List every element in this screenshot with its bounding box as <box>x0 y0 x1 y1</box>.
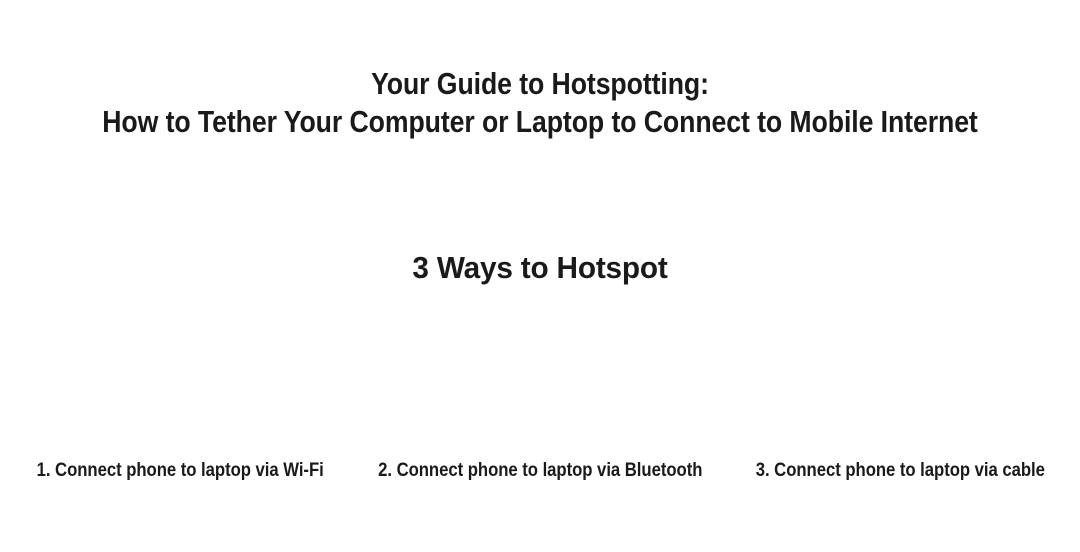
hotspot-method-1-caption: 1. Connect phone to laptop via Wi-Fi <box>33 460 327 526</box>
hotspot-method-3: 3. Connect phone to laptop via cable <box>720 286 1080 526</box>
hotspot-method-1: 1. Connect phone to laptop via Wi-Fi <box>0 286 360 526</box>
hotspot-method-3-caption: 3. Connect phone to laptop via cable <box>752 460 1048 526</box>
section-heading: 3 Ways to Hotspot <box>22 248 1059 288</box>
page-title-line-1: Your Guide to Hotspotting: <box>76 65 1005 103</box>
wifi-tethering-illustration <box>30 286 330 460</box>
page-title: Your Guide to Hotspotting: How to Tether… <box>76 65 1005 141</box>
usb-cable-tethering-illustration <box>750 286 1050 460</box>
bluetooth-tethering-illustration <box>390 286 690 460</box>
page-title-line-2: How to Tether Your Computer or Laptop to… <box>76 103 1005 141</box>
hotspot-method-2-caption: 2. Connect phone to laptop via Bluetooth <box>374 460 705 526</box>
hotspot-method-2: 2. Connect phone to laptop via Bluetooth <box>360 286 720 526</box>
article-page: Your Guide to Hotspotting: How to Tether… <box>0 0 1080 552</box>
hotspot-methods-row: 1. Connect phone to laptop via Wi-Fi 2. … <box>0 286 1080 526</box>
